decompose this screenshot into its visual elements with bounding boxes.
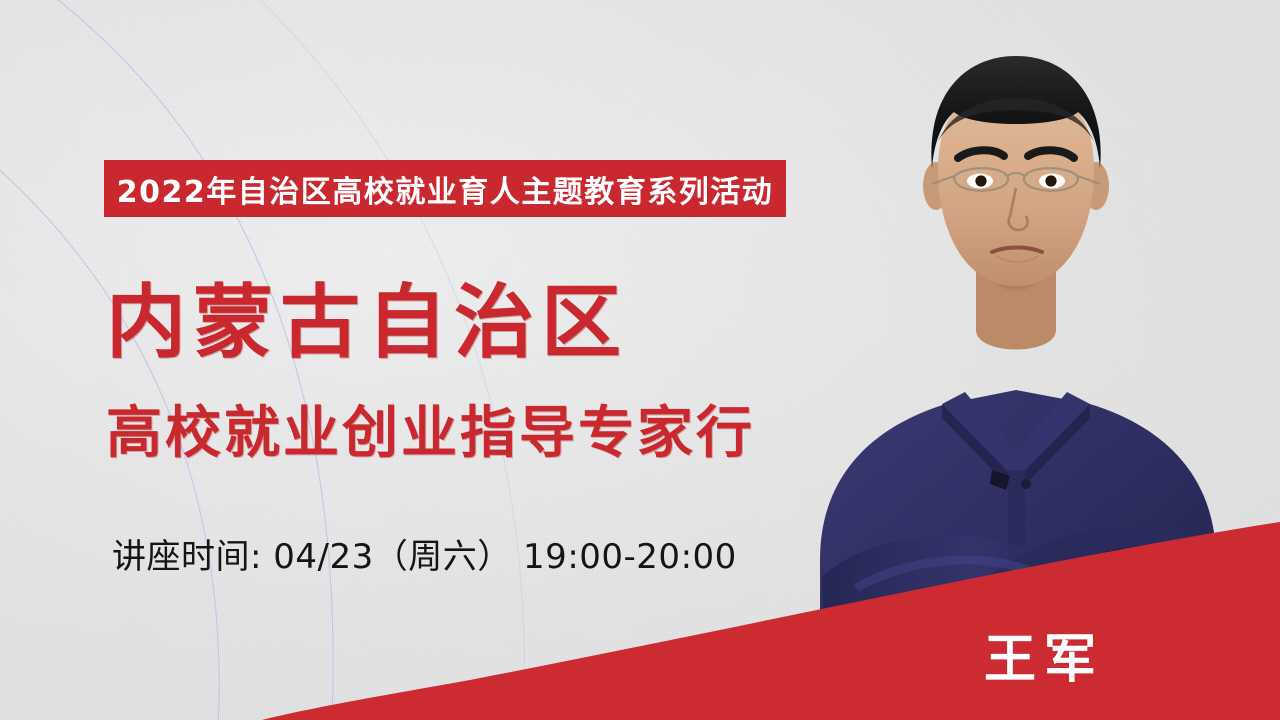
- page-title: 内蒙古自治区: [106, 283, 628, 363]
- lecture-schedule: 讲座时间: 04/23（周六） 19:00-20:00: [112, 537, 737, 578]
- poster-canvas: 2022年自治区高校就业育人主题教育系列活动 内蒙古自治区 高校就业创业指导专家…: [0, 0, 1280, 720]
- portrait-mic-head: [1021, 479, 1031, 489]
- page-subtitle: 高校就业创业指导专家行: [106, 406, 755, 462]
- campaign-banner-text: 2022年自治区高校就业育人主题教育系列活动: [117, 167, 774, 211]
- speaker-name: 王军: [984, 634, 1104, 686]
- portrait-pupil-left: [975, 175, 986, 186]
- campaign-banner: 2022年自治区高校就业育人主题教育系列活动: [104, 160, 786, 217]
- portrait-pupil-right: [1045, 175, 1056, 186]
- speaker-portrait: [760, 0, 1280, 720]
